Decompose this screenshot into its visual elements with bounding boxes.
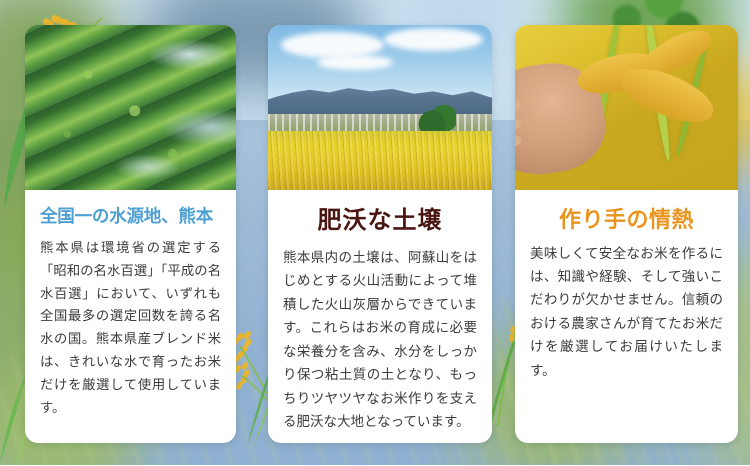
card-title: 作り手の情熱: [530, 206, 723, 234]
feature-card-growers-passion[interactable]: 作り手の情熱 美味しくて安全なお米を作るには、知識や経験、そして強いこだわりが欠…: [515, 25, 738, 443]
card-body: 作り手の情熱 美味しくて安全なお米を作るには、知識や経験、そして強いこだわりが欠…: [515, 190, 738, 443]
feature-card-fertile-soil[interactable]: 肥沃な土壌 熊本県内の土壌は、阿蘇山をはじめとする火山活動によって堆積した火山灰…: [268, 25, 492, 443]
card-text: 美味しくて安全なお米を作るには、知識や経験、そして強いこだわりが欠かせません。信…: [530, 242, 723, 383]
feature-card-water-source[interactable]: 全国一の水源地、熊本 熊本県は環境省の選定する「昭和の名水百選」「平成の名水百選…: [25, 25, 236, 443]
aerial-green-spring-water-photo: [25, 25, 236, 190]
hand-holding-rice-ears-photo: [515, 25, 738, 190]
photo-cloud: [317, 55, 393, 70]
card-body: 全国一の水源地、熊本 熊本県は環境省の選定する「昭和の名水百選」「平成の名水百選…: [25, 190, 236, 443]
mount-aso-golden-paddy-photo: [268, 25, 492, 190]
photo-paddy-layer: [268, 131, 492, 190]
photo-cloud: [281, 32, 384, 58]
photo-finger: [515, 134, 523, 150]
card-text: 熊本県は環境省の選定する「昭和の名水百選」「平成の名水百選」において、いずれも全…: [40, 237, 221, 420]
photo-finger: [515, 116, 523, 137]
card-title: 全国一の水源地、熊本: [40, 206, 221, 228]
card-title: 肥沃な土壌: [283, 206, 477, 236]
card-text: 熊本県内の土壌は、阿蘇山をはじめとする火山活動によって堆積した火山灰層からできて…: [283, 246, 477, 434]
feature-card-list: 全国一の水源地、熊本 熊本県は環境省の選定する「昭和の名水百選」「平成の名水百選…: [0, 0, 750, 465]
card-body: 肥沃な土壌 熊本県内の土壌は、阿蘇山をはじめとする火山活動によって堆積した火山灰…: [268, 190, 492, 443]
